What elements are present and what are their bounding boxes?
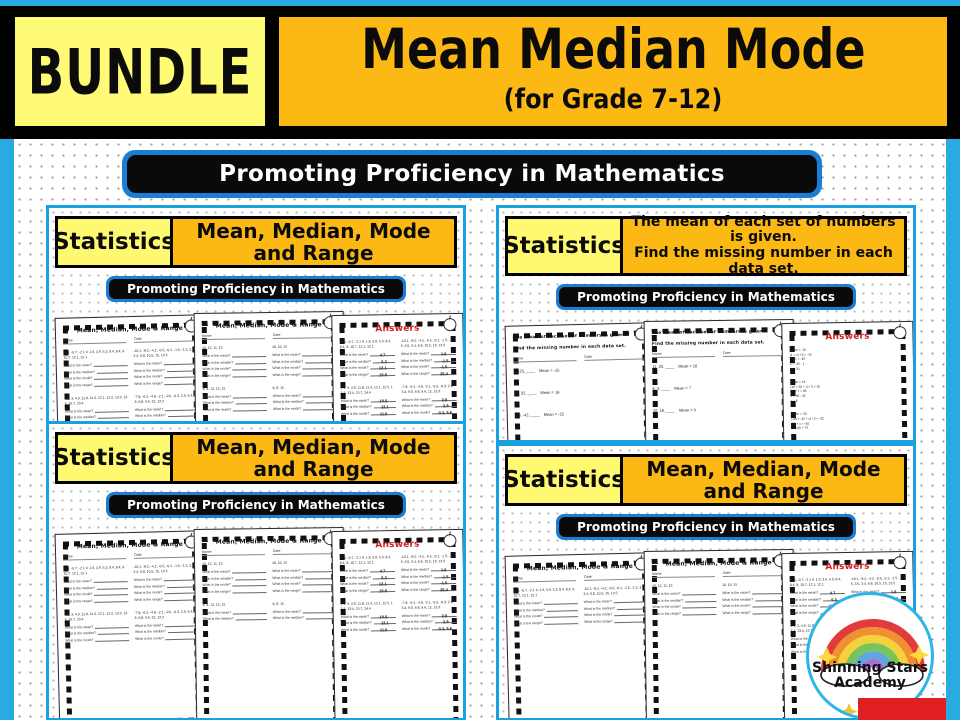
question-label: What is the mean? [722, 591, 750, 595]
answer-blank[interactable] [233, 610, 267, 614]
answer-blank[interactable] [95, 598, 129, 603]
answer-blank[interactable] [233, 589, 267, 593]
answer-value: 5.3 [373, 575, 395, 579]
question-label: What is the mean? [64, 579, 92, 584]
question-label: What is the mean? [273, 609, 301, 613]
question-label: What is the mean? [202, 354, 230, 358]
answer-blank[interactable] [235, 576, 266, 580]
worksheet-name-date-row: Name Date [652, 350, 786, 358]
title-box: Mean Median Mode (for Grade 7-12) [276, 14, 950, 129]
question-label: What is the median? [135, 630, 166, 635]
data-set: -10.1, -8.2, -4.2, -0.5, -0.1, -1.5, -1.… [133, 347, 197, 359]
answer-blank[interactable] [164, 374, 198, 379]
bundle-label: BUNDLE [28, 35, 253, 108]
question-label: What is the mean? [134, 361, 162, 366]
answers-heading: Answers [789, 561, 905, 573]
question-label: What is the range? [202, 589, 231, 593]
question-label: What is the mean? [514, 601, 542, 606]
worksheet-name-date-row: Name Date [63, 335, 197, 344]
question-label: What is the mode? [273, 406, 301, 410]
card-tagline-banner: Promoting Proficiency in Mathematics [556, 284, 856, 310]
answer-value: 1.6 [431, 351, 456, 355]
card-title: The mean of each set of numbers is given… [623, 216, 907, 276]
question-label: What is the mean? [134, 577, 162, 582]
worksheet-thumbnail[interactable]: Mean, Median, Mode & Range Name Date 10,… [194, 527, 347, 720]
question-label: What is the mean? [135, 623, 163, 628]
question-label: What is the median? [272, 575, 303, 579]
answer-key-thumbnail[interactable]: Answers -3.8, -0.7, -2.1 9, 1.9, 3.9, 5.… [331, 529, 466, 720]
card-title-line2: Find the missing number in each data set… [627, 246, 900, 277]
question-label: What is the range? [722, 610, 751, 614]
question-label: What is the mean? [273, 393, 301, 397]
question-label: What is the mode? [341, 411, 369, 415]
question-label: What is the mean? [584, 599, 612, 604]
data-set: 10, 12, 11, 15 [652, 583, 716, 589]
question-label: What is the mean? [65, 409, 93, 414]
answer-blank[interactable] [94, 362, 128, 367]
question-label: What is the mode? [401, 365, 429, 369]
statistics-tab: Statistics [505, 454, 623, 506]
question-label: What is the mean? [272, 569, 300, 573]
name-field-label: Name [202, 333, 265, 340]
question-label: What is the range? [134, 597, 163, 602]
card-title: Mean, Median, Mode and Range [173, 216, 457, 268]
mean-prompt: 1, -25, ____ Mean = -15 [514, 366, 648, 374]
data-set: -7.8, -6.2, -4.8, -2.1, -0.5, -0.3, 2.9,… [134, 609, 198, 621]
data-set: 2.1, 3, 4.9, 11.8, 11.4, 12.1, 12.5, 13.… [65, 611, 129, 623]
answer-blank[interactable] [232, 353, 266, 357]
question-label: What is the range? [64, 383, 93, 388]
question-label: What is the mean? [402, 613, 430, 617]
card-header: Statistics Mean, Median, Mode and Range [505, 454, 907, 506]
date-field-label: Date [723, 570, 786, 577]
brand-name-line1: Shinning Stars [812, 660, 928, 676]
question-label: What is the range? [202, 373, 231, 377]
tagline-text: Promoting Proficiency in Mathematics [219, 161, 725, 187]
question-label: What is the median? [402, 404, 433, 409]
question-label: What is the range? [340, 588, 369, 592]
question-label: What is the median? [652, 598, 683, 602]
card-title-line1: The mean of each set of numbers is given… [627, 215, 900, 246]
worksheet-heading: Mean, Median, Mode & Range [513, 562, 647, 572]
answer-value: 11.6 [371, 627, 396, 631]
worksheet-name-date-row: Name Date [63, 551, 197, 560]
data-set: 10, 12, 11, 15 [202, 345, 266, 351]
date-field-label: Date [134, 551, 197, 559]
tagline-inner: Promoting Proficiency in Mathematics [127, 155, 817, 193]
preview-card-top-left[interactable]: Statistics Mean, Median, Mode and Range … [46, 205, 466, 433]
answer-value: -1.5 [434, 574, 456, 578]
answers-heading: Answers [339, 323, 455, 335]
worksheet-heading: Mean, Median, Mode & Range [652, 559, 786, 568]
answer-blank[interactable] [94, 375, 128, 380]
question-label: What is the mode? [272, 582, 300, 586]
name-field-label: Name [202, 549, 265, 556]
question-label: What is the mean? [402, 397, 430, 401]
answer-blank[interactable] [167, 367, 198, 372]
question-label: What is the range? [790, 610, 819, 614]
data-set: -7.8, -6.2, -4.8, -2.1, -0.5, -0.3, 2.9,… [134, 393, 198, 405]
question-label: What is the median? [402, 620, 433, 625]
question-label: What is the median? [203, 617, 234, 621]
data-set: -10.1, -8.2, -4.2, -0.5, -0.1, -1.5, -1.… [401, 554, 456, 565]
answer-value: 4.7 [820, 590, 845, 594]
worksheet-thumbnails: Mean, Median, Mode & Range Name Date -3.… [55, 310, 459, 433]
answer-blank[interactable] [544, 613, 578, 618]
answer-blank[interactable] [614, 612, 648, 617]
question-label: What is the median? [65, 631, 96, 636]
question-label: What is the median? [64, 586, 95, 591]
answer-blank[interactable] [98, 415, 129, 420]
name-field-label: Name [63, 553, 126, 561]
answer-value: 15.9 [371, 588, 396, 592]
data-set: -10.1, -8.2, -4.2, -0.5, -0.1, -1.5, -1.… [583, 585, 647, 597]
question-label: What is the median? [203, 401, 234, 405]
question-label: What is the mode? [203, 407, 231, 411]
answer-value: -0.3, 9.8 [432, 410, 457, 414]
answer-blank[interactable] [614, 599, 648, 604]
worksheet-prompt-line2: Find the missing number in each data set… [652, 340, 786, 348]
answer-blank[interactable] [167, 583, 198, 588]
question-label: What is the mode? [402, 410, 430, 414]
brand-name-line2: Academy [809, 676, 931, 691]
answer-blank[interactable] [232, 569, 266, 573]
answer-blank[interactable] [165, 406, 199, 411]
question-label: What is the mode? [584, 612, 612, 617]
answer-blank[interactable] [233, 582, 267, 586]
question-label: What is the median? [135, 414, 166, 419]
question-label: What is the mode? [64, 376, 92, 381]
question-label: What is the median? [341, 405, 372, 410]
question-label: What is the median? [790, 597, 821, 602]
data-set: 10, 10, 15 [272, 344, 336, 350]
answer-blank[interactable] [544, 600, 578, 605]
question-label: What is the median? [514, 608, 545, 613]
question-label: What is the mode? [652, 605, 680, 609]
question-label: What is the median? [273, 616, 304, 620]
product-cover: BUNDLE Mean Median Mode (for Grade 7-12)… [0, 0, 960, 720]
question-label: What is the median? [401, 358, 432, 363]
question-label: What is the mean? [341, 398, 369, 402]
statistics-tab: Statistics [55, 216, 173, 268]
question-label: What is the mean? [203, 610, 231, 614]
question-label: What is the mean? [340, 353, 368, 357]
answer-blank[interactable] [97, 585, 128, 590]
page-subtitle: (for Grade 7-12) [504, 83, 723, 114]
card-tagline-text: Promoting Proficiency in Mathematics [559, 287, 853, 307]
name-field-label: Name [513, 575, 576, 583]
data-set: -3.8, -0.7, -2.1 9, 1.9, 3.9, 5.3, 8.4, … [513, 587, 577, 599]
data-set: 2.1, 3, 4.9, 11.8, 11.4, 12.1, 12.5, 13.… [340, 385, 395, 396]
question-label: What is the mode? [514, 614, 542, 619]
answer-value: 4.7 [370, 352, 395, 356]
card-title: Mean, Median, Mode and Range [623, 454, 907, 506]
worksheet-thumbnails: The mean of each set of numbers is given… [505, 318, 909, 443]
mean-prompt-data: -33, -42, ____ [515, 412, 540, 418]
question-label: What is the mode? [340, 582, 368, 586]
question-label: What is the range? [340, 372, 369, 376]
data-set: -10.1, -8.2, -4.2, -0.5, -0.1, -1.5, -1.… [401, 338, 456, 349]
answer-value: 2.8 [432, 613, 457, 617]
mean-prompt-value: Mean = -15 [539, 368, 559, 373]
answer-value: 10.5 [371, 614, 396, 618]
answer-blank[interactable] [95, 382, 129, 387]
answer-blank[interactable] [683, 604, 717, 608]
mean-prompt-value: Mean = 9 [679, 408, 696, 413]
answer-blank[interactable] [94, 591, 128, 596]
question-label: What is the median? [401, 574, 432, 579]
mean-prompt-value: Mean = -22 [544, 412, 564, 417]
answer-blank[interactable] [164, 361, 198, 366]
question-label: What is the mode? [722, 604, 750, 608]
data-set: 2.1, 3, 4.9, 11.8, 11.4, 12.1, 12.5, 13.… [340, 601, 395, 612]
question-label: What is the mean? [401, 568, 429, 572]
question-label: What is the mode? [202, 583, 230, 587]
answer-value: -1.5 [434, 358, 456, 362]
question-label: What is the range? [584, 619, 613, 624]
answer-key-thumbnail[interactable]: Answers Mean = -15 (1 + x) / 3 = -15 1 +… [781, 321, 916, 443]
bundle-badge: BUNDLE [12, 14, 268, 129]
worksheet-name-date-row: Name Date [652, 570, 786, 578]
name-field-label: Name [63, 337, 126, 345]
answer-blank[interactable] [545, 620, 579, 625]
statistics-tab: Statistics [55, 432, 173, 484]
question-label: What is the median? [722, 597, 753, 601]
mean-prompt-data: 11, 32, ____ [652, 364, 674, 369]
data-set: 8, 8, 15 [273, 601, 337, 607]
answer-blank[interactable] [233, 373, 267, 377]
name-field-label: Name [652, 351, 715, 358]
question-label: What is the mean? [340, 569, 368, 573]
worksheet-name-date-row: Name Date [202, 332, 336, 340]
answer-blank[interactable] [97, 369, 128, 374]
data-set: 2.1, 3, 4.9, 11.8, 11.4, 12.1, 12.5, 13.… [65, 395, 129, 407]
card-tagline-banner: Promoting Proficiency in Mathematics [106, 276, 406, 302]
question-label: What is the median? [273, 400, 304, 404]
mean-prompt: 6, 2, ____ Mean = 7 [652, 384, 786, 391]
answer-value: 12.1 [370, 365, 395, 369]
answer-value: 2.9 [435, 403, 457, 407]
card-title: Mean, Median, Mode and Range [173, 432, 457, 484]
tagline-banner: Promoting Proficiency in Mathematics [122, 150, 822, 198]
card-header: Statistics Mean, Median, Mode and Range [55, 432, 457, 484]
worksheet-prompt-line1: The mean of each set of numbers is given… [513, 332, 647, 342]
answers-heading: Answers [339, 539, 455, 551]
answer-value: 4.7 [370, 568, 395, 572]
answer-blank[interactable] [236, 616, 267, 620]
question-label: What is the range? [64, 599, 93, 604]
answer-blank[interactable] [98, 631, 129, 636]
worksheet-thumbnail[interactable]: The mean of each set of numbers is given… [505, 322, 660, 443]
data-set: 10, 12, 11, 15 [202, 561, 266, 567]
work-line: x = 6 [791, 397, 907, 404]
answer-blank[interactable] [236, 400, 267, 404]
mean-prompt-data: 10, 32, ____ [514, 390, 536, 396]
question-label: What is the median? [202, 576, 233, 580]
question-label: What is the median? [65, 415, 96, 420]
answer-blank[interactable] [165, 622, 199, 627]
worksheet-heading: Mean, Median, Mode & Range [202, 321, 336, 330]
worksheet-thumbnail[interactable]: The mean of each set of numbers is given… [644, 319, 797, 443]
worksheet-thumbnail[interactable]: Mean, Median, Mode & Range Name Date -3.… [55, 314, 210, 433]
question-label: What is the mode? [402, 626, 430, 630]
question-label: What is the mean? [401, 352, 429, 356]
mean-prompt: 10, 32, ____ Mean = 16 [514, 388, 648, 396]
question-label: What is the mode? [202, 367, 230, 371]
question-label: What is the median? [272, 359, 303, 363]
answer-value: 1.6 [431, 567, 456, 571]
mean-prompt-value: Mean = 16 [678, 364, 697, 369]
card-tagline-banner: Promoting Proficiency in Mathematics [556, 514, 856, 540]
question-label: What is the mean? [64, 363, 92, 368]
question-label: What is the median? [134, 584, 165, 589]
question-label: What is the median? [340, 575, 371, 580]
data-set: -3.8, -0.7, -2.1 9, 1.9, 3.9, 5.3, 8.4, … [63, 565, 127, 577]
question-label: What is the mean? [202, 570, 230, 574]
question-label: What is the mode? [65, 638, 93, 643]
worksheet-name-date-row: Name Date [513, 573, 647, 582]
question-label: What is the mean? [652, 592, 680, 596]
question-label: What is the mode? [134, 590, 162, 595]
question-label: What is the median? [340, 359, 371, 364]
answer-blank[interactable] [685, 598, 716, 602]
data-set: -7.8, -6.2, -4.8, -2.1, -0.5, -0.3, 2.9,… [401, 384, 456, 395]
question-label: What is the mean? [135, 407, 163, 412]
data-set: -3.8, -0.7, -2.1 9, 1.9, 3.9, 5.3, 8.4, … [340, 339, 395, 350]
worksheet-name-date-row: Name Date [513, 354, 647, 363]
worksheet-name-date-row: Name Date [202, 548, 336, 556]
name-field-label: Name [513, 355, 576, 363]
question-label: What is the range? [272, 588, 301, 592]
question-label: What is the median? [584, 606, 615, 611]
mean-prompt-value: Mean = 7 [674, 386, 691, 391]
question-label: What is the mode? [64, 592, 92, 597]
work-line: x = -21 [790, 365, 906, 372]
worksheet-prompt-line1: The mean of each set of numbers is given… [652, 329, 786, 337]
answer-blank[interactable] [233, 366, 267, 370]
answer-value: 2.8 [432, 397, 457, 401]
question-label: What is the mean? [65, 625, 93, 630]
answer-blank[interactable] [233, 407, 267, 411]
question-label: What is the range? [134, 381, 163, 386]
answer-blank[interactable] [94, 578, 128, 583]
answer-value: 15.9 [371, 372, 396, 376]
answer-value: -1.5 [431, 580, 456, 584]
question-label: What is the mode? [790, 604, 818, 608]
answer-value: 26.4 [432, 587, 457, 591]
red-accent-chip [858, 698, 946, 720]
worksheet-thumbnail[interactable]: Mean, Median, Mode & Range Name Date -3.… [55, 530, 210, 720]
question-label: What is the range? [652, 611, 681, 615]
worksheet-thumbnails: Mean, Median, Mode & Range Name Date -3.… [55, 526, 459, 720]
date-field-label: Date [723, 350, 786, 357]
data-set: -3.8, -0.7, -2.1 9, 1.9, 3.9, 5.3, 8.4, … [340, 555, 395, 566]
question-label: What is the median? [341, 621, 372, 626]
question-label: What is the mean? [790, 591, 818, 595]
question-label: What is the mean? [203, 394, 231, 398]
answer-blank[interactable] [683, 611, 717, 615]
preview-card-bottom-left[interactable]: Statistics Mean, Median, Mode and Range … [46, 421, 466, 720]
worksheet-heading: Mean, Median, Mode & Range [63, 540, 197, 550]
statistics-tab: Statistics [505, 216, 623, 276]
answer-blank[interactable] [164, 577, 198, 582]
question-label: What is the range? [401, 587, 430, 591]
answer-blank[interactable] [682, 591, 716, 595]
data-set: -3.8, -0.7, -2.1 9, 1.9, 3.9, 5.3, 8.4, … [790, 577, 845, 588]
answer-blank[interactable] [615, 618, 649, 623]
question-label: What is the mode? [340, 366, 368, 370]
page-title: Mean Median Mode [361, 22, 865, 77]
mean-prompt-data: 10, 16, ____ [653, 408, 675, 413]
answer-blank[interactable] [617, 605, 648, 610]
mean-prompt-data: 1, -25, ____ [514, 368, 535, 374]
card-header: Statistics Mean, Median, Mode and Range [55, 216, 457, 268]
answer-blank[interactable] [164, 590, 198, 595]
answer-blank[interactable] [95, 624, 129, 629]
answer-blank[interactable] [95, 408, 129, 413]
answer-value: -0.3, 9.8 [432, 626, 457, 630]
mean-prompt: 10, 16, ____ Mean = 9 [653, 406, 787, 413]
data-set: 8, 8, 15 [273, 385, 337, 391]
mean-prompt-value: Mean = 16 [540, 390, 559, 395]
card-tagline-text: Promoting Proficiency in Mathematics [109, 279, 403, 299]
answer-blank[interactable] [95, 637, 129, 642]
worksheet-heading: Mean, Median, Mode & Range [202, 537, 336, 546]
date-field-label: Date [584, 573, 647, 581]
header-bar: BUNDLE Mean Median Mode (for Grade 7-12) [0, 0, 960, 139]
worksheet-thumbnail[interactable]: Mean, Median, Mode & Range Name Date -3.… [505, 552, 660, 720]
date-field-label: Date [134, 335, 197, 343]
worksheet-thumbnail[interactable]: Mean, Median, Mode & Range Name Date 10,… [644, 549, 797, 720]
worksheet-prompt-line2: Find the missing number in each data set… [513, 343, 647, 353]
brand-name: Shinning Stars Academy [809, 661, 931, 690]
question-label: What is the range? [401, 371, 430, 375]
card-tagline-banner: Promoting Proficiency in Mathematics [106, 492, 406, 518]
answer-work-block: Mean = 16 (10 + 32 + x) / 3 = 16 42 + x … [790, 378, 906, 403]
question-label: What is the range? [272, 372, 301, 376]
date-field-label: Date [273, 332, 336, 339]
question-label: What is the mode? [135, 636, 163, 641]
answer-blank[interactable] [235, 360, 266, 364]
worksheet-thumbnail[interactable]: Mean, Median, Mode & Range Name Date 10,… [194, 311, 347, 433]
body-panel: Promoting Proficiency in Mathematics Sta… [14, 139, 946, 720]
preview-card-top-right[interactable]: Statistics The mean of each set of numbe… [496, 205, 916, 443]
card-header: Statistics The mean of each set of numbe… [505, 216, 907, 276]
answer-value: 12.1 [370, 581, 395, 585]
data-set: -3.8, -0.7, -2.1 9, 1.9, 3.9, 5.3, 8.4, … [63, 349, 127, 361]
data-set: -7.8, -6.2, -4.8, -2.1, -0.5, -0.3, 2.9,… [401, 600, 456, 611]
answer-value: 26.4 [432, 371, 457, 375]
question-label: What is the mode? [272, 366, 300, 370]
question-label: What is the mode? [341, 627, 369, 631]
question-label: What is the mode? [401, 581, 429, 585]
answer-blank[interactable] [165, 596, 199, 601]
answer-blank[interactable] [233, 394, 267, 398]
data-set: -10.1, -8.2, -4.2, -0.5, -0.1, -1.5, -1.… [851, 576, 906, 587]
answer-value: 12.1 [374, 404, 396, 408]
question-label: What is the median? [202, 360, 233, 364]
answer-value: 12.1 [374, 620, 396, 624]
card-tagline-text: Promoting Proficiency in Mathematics [109, 495, 403, 515]
answer-blank[interactable] [547, 607, 578, 612]
answer-blank[interactable] [165, 380, 199, 385]
answer-value: 10.5 [371, 398, 396, 402]
name-field-label: Name [652, 571, 715, 578]
mean-prompt: 11, 32, ____ Mean = 16 [652, 362, 786, 369]
date-field-label: Date [273, 548, 336, 555]
question-label: What is the range? [514, 621, 543, 626]
answer-key-thumbnail[interactable]: Answers -3.8, -0.7, -2.1 9, 1.9, 3.9, 5.… [331, 313, 466, 433]
